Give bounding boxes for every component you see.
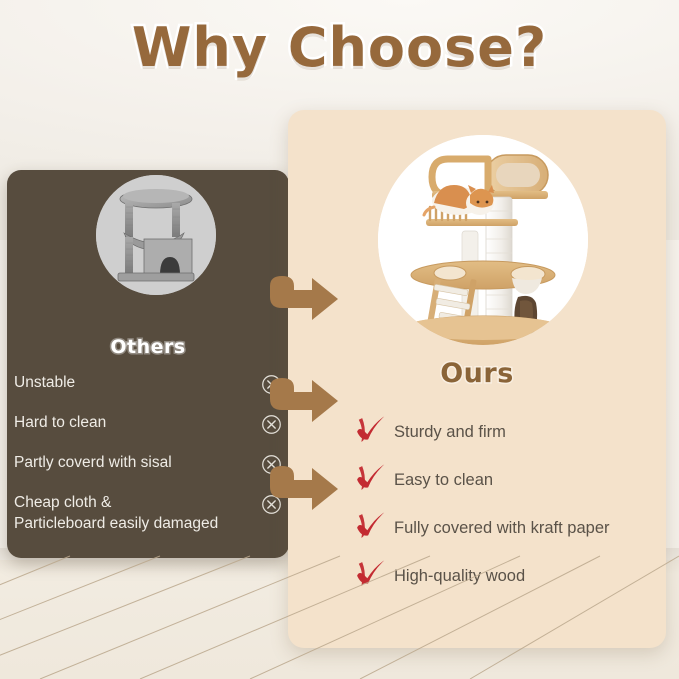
infographic-stage: Why Choose? [0,0,679,679]
floor-plank-lines [0,0,679,679]
